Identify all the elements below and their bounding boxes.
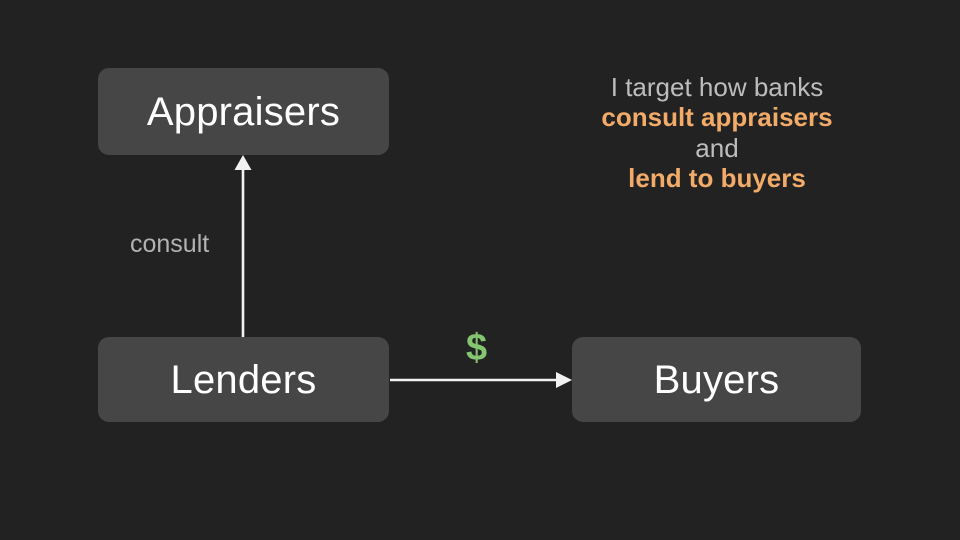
annotation-line-1: I target how banks [537,72,897,102]
edge-label-consult: consult [130,232,209,257]
node-buyers[interactable]: Buyers [572,337,861,422]
node-lenders[interactable]: Lenders [98,337,389,422]
annotation-line-3: and [537,133,897,163]
diagram-canvas: Appraisers Lenders Buyers consult $ I ta… [0,0,960,540]
annotation-line-2: consult appraisers [537,102,897,132]
node-buyers-label: Buyers [654,360,780,400]
node-lenders-label: Lenders [171,360,317,400]
node-appraisers-label: Appraisers [147,92,340,132]
node-appraisers[interactable]: Appraisers [98,68,389,155]
annotation-block: I target how banks consult appraisers an… [537,72,897,194]
arrow-lenders-to-appraisers [235,155,252,337]
edge-label-dollar-sign: $ [466,329,487,367]
arrow-lenders-to-buyers [390,372,572,388]
annotation-line-4: lend to buyers [537,163,897,193]
